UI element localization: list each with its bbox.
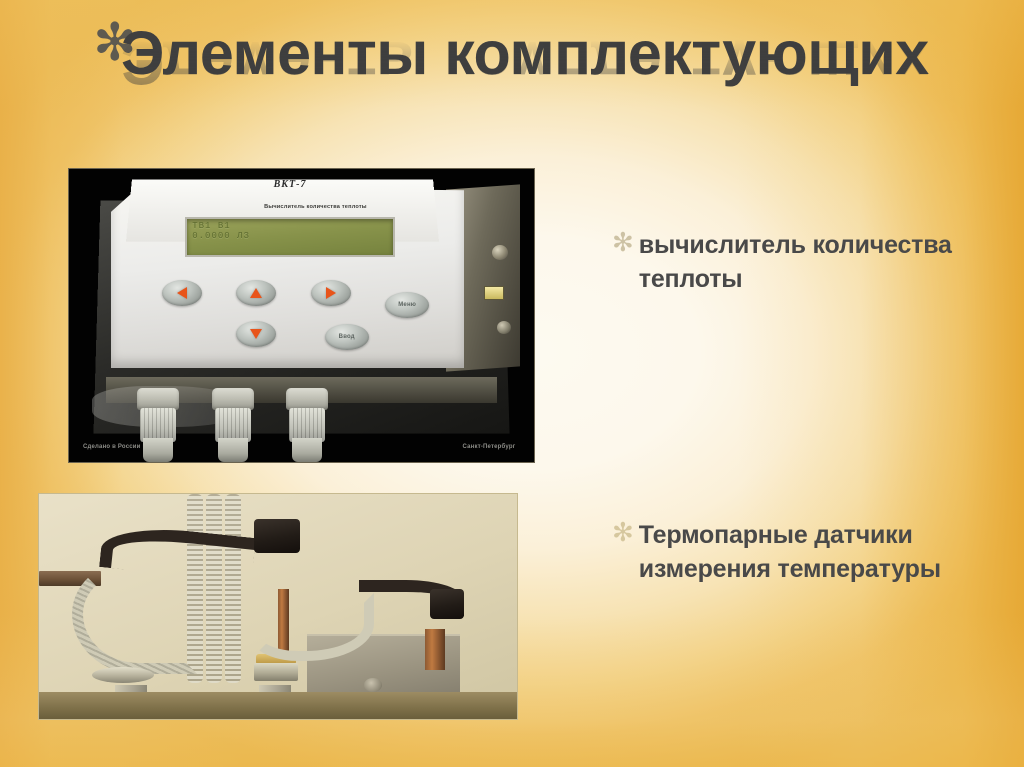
gland-cap [218, 438, 248, 462]
lcd-line-1: ТВ1 В1 [192, 221, 387, 231]
gland-body [140, 408, 176, 442]
device-button-enter: Ввод [325, 324, 369, 350]
photo-thermocouple-sensors [38, 493, 518, 720]
device-city-label: Санкт-Петербург [463, 444, 516, 450]
lcd-line-2: 0.0000 ЛЗ [192, 231, 387, 241]
device-model-label: ВКТ-7 [274, 179, 307, 190]
bullet-asterisk-icon: ✻ [612, 520, 634, 546]
gland-nut [137, 388, 179, 410]
flexible-conduit-vertical-3 [225, 494, 241, 683]
sensor-flange-left [92, 667, 154, 683]
device-button-menu: Меню [385, 292, 429, 318]
sensor-stem-right [425, 629, 445, 670]
cable-gland-2 [209, 388, 257, 462]
gland-cap [143, 438, 173, 462]
sensor-fitting-center [254, 663, 298, 681]
floor-surface [39, 692, 517, 719]
gland-body [215, 408, 251, 442]
flexible-conduit-vertical-2 [206, 494, 222, 683]
device-made-in-label: Сделано в России [83, 444, 141, 450]
arrow-up-icon [250, 288, 262, 298]
gland-body [289, 408, 325, 442]
photo-heat-calculator: ВКТ-7 Вычислитель количества теплоты ТВ1… [68, 168, 535, 463]
title-text: Элементы комплектующих [121, 22, 929, 84]
bullet-asterisk-icon: ✻ [612, 230, 634, 256]
bullet-text-thermocouple-sensors: Термопарные датчики измерения температур… [639, 518, 1012, 586]
page-title: ✻ Элементы комплектующих Элементы компле… [88, 12, 1024, 134]
arrow-down-icon [250, 329, 262, 339]
device-subtitle-label: Вычислитель количества теплоты [171, 204, 459, 210]
bullet-item-thermocouple-sensors: ✻ Термопарные датчики измерения температ… [612, 518, 1012, 586]
gland-nut [212, 388, 254, 410]
cable-gland-3 [283, 388, 331, 462]
slide-canvas: ✻ Элементы комплектующих Элементы компле… [0, 0, 1024, 767]
sensor-head-center [254, 519, 300, 553]
side-indicator-lamp [484, 286, 504, 300]
arrow-left-icon [177, 287, 187, 299]
heat-calculator-scene: ВКТ-7 Вычислитель количества теплоты ТВ1… [69, 169, 534, 462]
arrow-right-icon [326, 287, 336, 299]
device-button-menu-label: Меню [398, 302, 416, 308]
gland-cap [292, 438, 322, 462]
device-lcd-display: ТВ1 В1 0.0000 ЛЗ [185, 217, 394, 257]
plate-bolt-icon [364, 678, 382, 692]
device-button-enter-label: Ввод [339, 334, 355, 340]
bullet-text-heat-calculator: вычислитель количества теплоты [639, 228, 1012, 296]
cable-gland-1 [134, 388, 182, 462]
sensors-scene [39, 494, 517, 719]
bullet-item-heat-calculator: ✻ вычислитель количества теплоты [612, 228, 1012, 296]
gland-nut [286, 388, 328, 410]
sensor-head-right [430, 589, 464, 619]
